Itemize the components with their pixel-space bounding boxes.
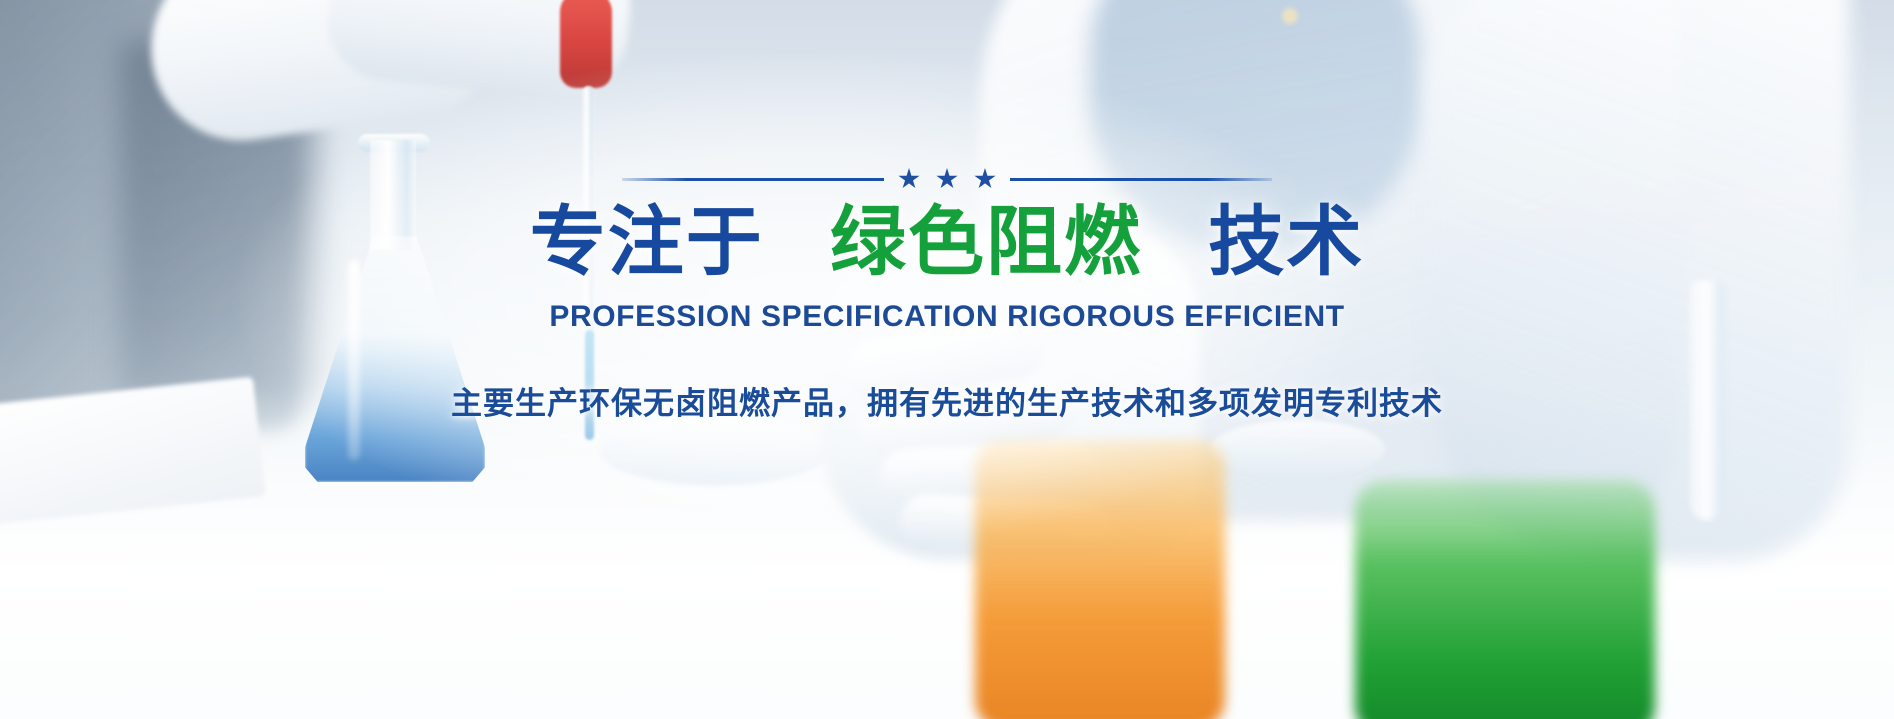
star-divider bbox=[622, 168, 1272, 190]
banner-content: 专注于 绿色阻燃 技术 PROFESSION SPECIFICATION RIG… bbox=[0, 0, 1894, 719]
banner-subtitle-english: PROFESSION SPECIFICATION RIGOROUS EFFICI… bbox=[549, 300, 1344, 334]
star-icon bbox=[936, 168, 958, 190]
headline-part-technology: 技术 bbox=[1208, 200, 1364, 285]
banner-subtitle-chinese: 主要生产环保无卤阻燃产品，拥有先进的生产技术和多项发明专利技术 bbox=[451, 378, 1443, 423]
headline-part-highlight: 绿色阻燃 bbox=[830, 200, 1142, 285]
divider-rule-right bbox=[1010, 178, 1272, 181]
hero-banner: 专注于 绿色阻燃 技术 PROFESSION SPECIFICATION RIG… bbox=[0, 0, 1894, 719]
divider-rule-left bbox=[622, 178, 884, 181]
headline-part-focus: 专注于 bbox=[530, 200, 764, 285]
star-icon bbox=[974, 168, 996, 190]
banner-headline: 专注于 绿色阻燃 技术 bbox=[530, 202, 1365, 284]
star-icon bbox=[898, 168, 920, 190]
divider-stars bbox=[898, 168, 996, 190]
